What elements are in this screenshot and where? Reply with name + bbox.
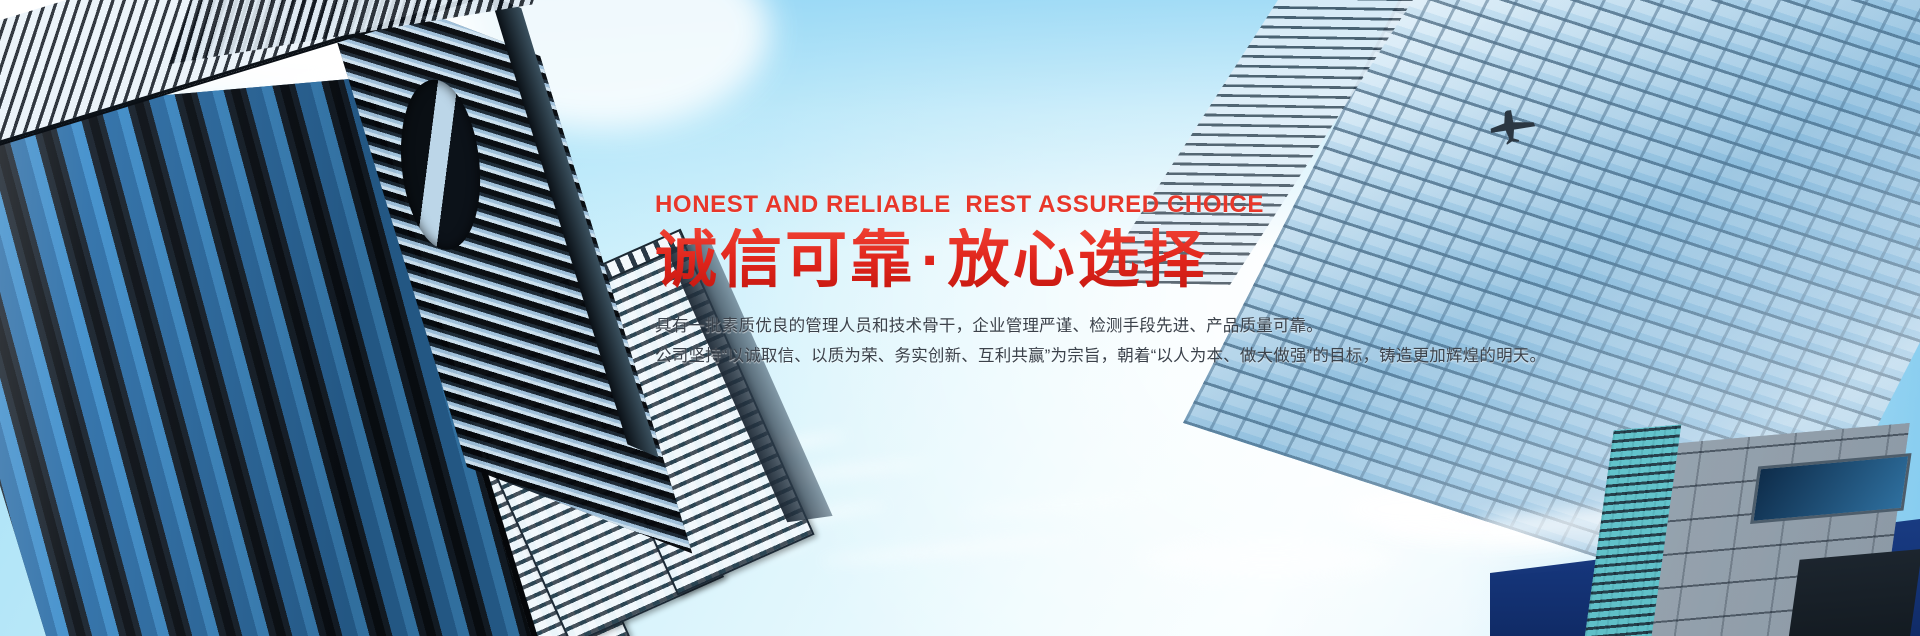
banner-body-line-1: 具有一批素质优良的管理人员和技术骨干，企业管理严谨、检测手段先进、产品质量可靠。 (655, 311, 1415, 342)
hero-banner: HONEST AND RELIABLE REST ASSURED CHOICE … (0, 0, 1920, 636)
banner-copy: HONEST AND RELIABLE REST ASSURED CHOICE … (655, 190, 1415, 372)
headline-separator: · (915, 226, 948, 295)
headline-right: 放心选择 (948, 226, 1208, 295)
banner-eyebrow: HONEST AND RELIABLE REST ASSURED CHOICE (655, 190, 1415, 220)
banner-headline: 诚信可靠·放心选择 (655, 228, 1415, 295)
low-cloud (1140, 542, 1400, 576)
gray-teal-tower (1534, 404, 1896, 636)
headline-left: 诚信可靠 (655, 226, 915, 295)
banner-body-line-2: 公司坚持“以诚取信、以质为荣、务实创新、互利共赢”为宗旨，朝着“以人为本、做大做… (655, 341, 1415, 372)
